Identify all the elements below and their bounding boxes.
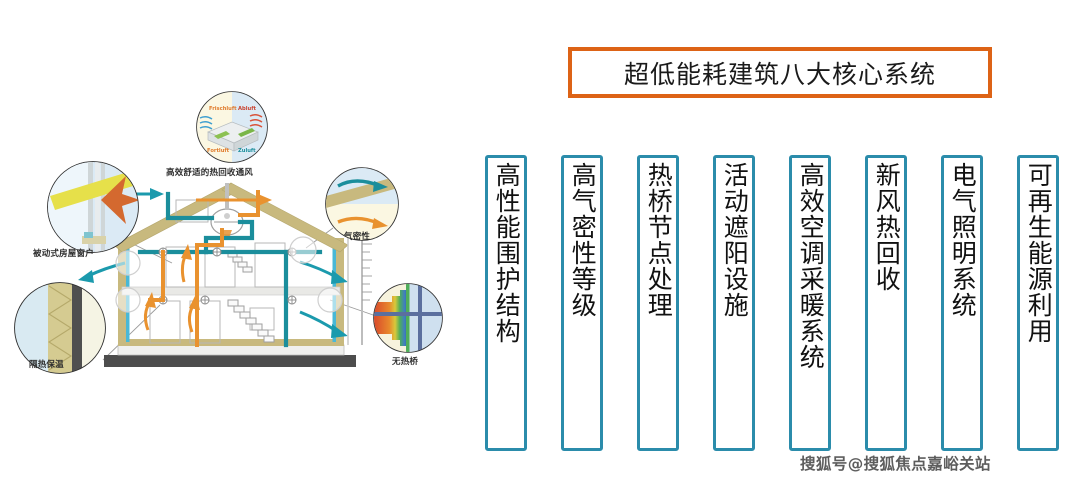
system-label-7: 电气照明系统 — [949, 162, 976, 318]
system-label-4: 活动遮阳设施 — [721, 162, 748, 318]
page-title: 超低能耗建筑八大核心系统 — [624, 55, 936, 91]
system-label-5: 高效空调采暖系统 — [797, 162, 824, 370]
watermark: 搜狐号@搜狐焦点嘉峪关站 — [800, 452, 991, 474]
callout-thermal-bridge — [374, 284, 442, 352]
label-window: 被动式房屋窗户 — [33, 247, 94, 259]
system-label-8: 可再生能源利用 — [1025, 162, 1052, 344]
passive-house-diagram: Frischluft Abluft Fortluft Zuluft — [0, 0, 470, 486]
system-label-2: 高气密性等级 — [569, 162, 596, 318]
system-box-3[interactable]: 热桥节点处理 — [637, 155, 679, 451]
label-thermal-bridge: 无热桥 — [392, 355, 418, 367]
system-box-1[interactable]: 高性能围护结构 — [485, 155, 527, 451]
label-zuluft: Zuluft — [238, 148, 256, 154]
system-box-5[interactable]: 高效空调采暖系统 — [789, 155, 831, 451]
system-box-4[interactable]: 活动遮阳设施 — [713, 155, 755, 451]
system-box-7[interactable]: 电气照明系统 — [941, 155, 983, 451]
system-box-2[interactable]: 高气密性等级 — [561, 155, 603, 451]
system-box-6[interactable]: 新风热回收 — [865, 155, 907, 451]
systems-column-list: 高性能围护结构 高气密性等级 热桥节点处理 活动遮阳设施 高效空调采暖系统 新风… — [470, 155, 1080, 451]
system-box-8[interactable]: 可再生能源利用 — [1017, 155, 1059, 451]
system-label-6: 新风热回收 — [873, 162, 900, 292]
label-abluft: Abluft — [238, 106, 256, 112]
panel-title-box: 超低能耗建筑八大核心系统 — [568, 47, 992, 98]
house-section-svg: Frischluft Abluft Fortluft Zuluft — [0, 0, 470, 486]
label-frischluft: Frischluft — [209, 106, 237, 112]
callout-window — [48, 162, 140, 252]
page-root: Frischluft Abluft Fortluft Zuluft — [0, 0, 1080, 486]
measurement-scale-icon — [348, 238, 372, 345]
callout-ventilation: Frischluft Abluft Fortluft Zuluft — [197, 92, 267, 162]
label-fortluft: Fortluft — [207, 148, 230, 154]
system-label-1: 高性能围护结构 — [493, 162, 520, 344]
systems-panel: 超低能耗建筑八大核心系统 高性能围护结构 高气密性等级 热桥节点处理 活动遮阳设… — [470, 0, 1080, 486]
label-insulation: 隔热保温 — [29, 358, 64, 370]
label-airtightness: 气密性 — [344, 230, 370, 242]
system-label-3: 热桥节点处理 — [645, 162, 672, 318]
label-ventilation: 高效舒适的热回收通风 — [166, 166, 253, 178]
